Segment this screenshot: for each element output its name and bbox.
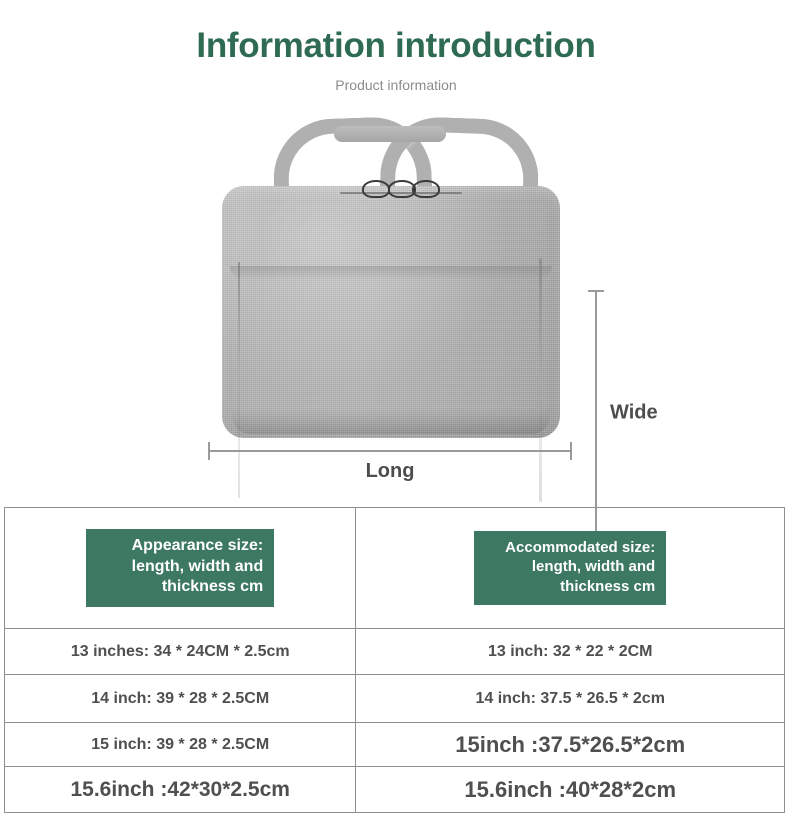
dimension-shaft	[595, 290, 597, 536]
page-title: Information introduction	[0, 26, 792, 66]
cell-accommodated-15p6inch: 15.6inch :40*28*2cm	[356, 767, 785, 813]
table-header-row: Appearance size: length, width and thick…	[5, 508, 785, 629]
zipper-pulls-icon	[362, 180, 436, 196]
cell-accommodated-15inch: 15inch :37.5*26.5*2cm	[356, 723, 785, 767]
appearance-size-badge: Appearance size: length, width and thick…	[86, 529, 274, 606]
bag-handle-grip	[334, 126, 446, 142]
table-row: 15.6inch :42*30*2.5cm 15.6inch :40*28*2c…	[5, 767, 785, 813]
bag-fabric-texture	[222, 186, 560, 438]
product-figure: Wide Long	[0, 108, 792, 498]
cell-accommodated-14inch: 14 inch: 37.5 * 26.5 * 2cm	[356, 675, 785, 723]
size-specification-table: Appearance size: length, width and thick…	[4, 507, 785, 813]
page-subtitle: Product information	[0, 77, 792, 93]
cell-appearance-15p6inch: 15.6inch :42*30*2.5cm	[5, 767, 356, 813]
table-header-cell-appearance: Appearance size: length, width and thick…	[5, 508, 356, 629]
dimension-cap-end	[570, 442, 572, 460]
table-row: 15 inch: 39 * 28 * 2.5CM 15inch :37.5*26…	[5, 723, 785, 767]
cell-appearance-15inch: 15 inch: 39 * 28 * 2.5CM	[5, 723, 356, 767]
laptop-sleeve-bag-image	[222, 118, 560, 438]
cell-appearance-14inch: 14 inch: 39 * 28 * 2.5CM	[5, 675, 356, 723]
dimension-long-label: Long	[208, 460, 572, 483]
bag-pocket-edge	[230, 266, 552, 280]
dimension-long: Long	[208, 438, 572, 494]
dimension-wide-label: Wide	[610, 402, 658, 425]
bag-body	[222, 186, 560, 438]
cell-appearance-13inch: 13 inches: 34 * 24CM * 2.5cm	[5, 629, 356, 675]
dimension-shaft	[208, 450, 572, 452]
bag-bottom-shadow	[232, 408, 550, 434]
table-row: 13 inches: 34 * 24CM * 2.5cm 13 inch: 32…	[5, 629, 785, 675]
cell-accommodated-13inch: 13 inch: 32 * 22 * 2CM	[356, 629, 785, 675]
zipper-pull-icon	[412, 180, 440, 198]
accommodated-size-badge: Accommodated size: length, width and thi…	[474, 531, 666, 605]
zipper-pull-icon	[362, 180, 390, 198]
dimension-wide: Wide	[588, 290, 708, 536]
table-row: 14 inch: 39 * 28 * 2.5CM 14 inch: 37.5 *…	[5, 675, 785, 723]
table-header-cell-accommodated: Accommodated size: length, width and thi…	[356, 508, 785, 629]
